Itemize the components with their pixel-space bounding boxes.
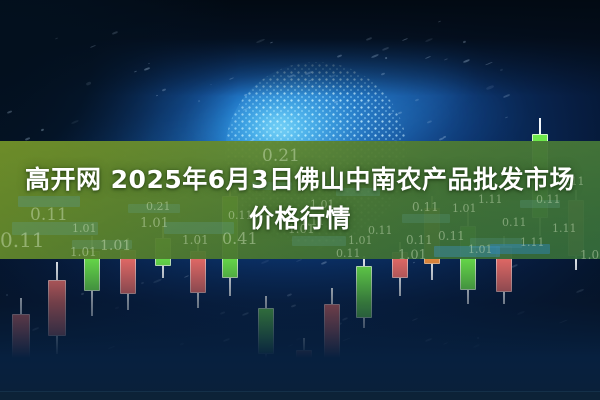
background-number: 1.11 <box>368 141 395 142</box>
background-number: 1.01 <box>468 243 493 256</box>
background-number: 0.11 <box>336 247 361 259</box>
title-line-secondary: 价格行情 <box>8 199 592 238</box>
bottom-edge-strip <box>0 391 600 400</box>
title-block: 高开网 2025年6月3日佛山中南农产品批发市场 价格行情 <box>0 160 600 238</box>
background-number: 1.01 <box>100 238 131 254</box>
background-number: 1.01 <box>70 245 97 259</box>
banner-image: 0.110.111.011.011.010.211.011.010.110.41… <box>0 0 600 400</box>
bottom-vignette <box>0 250 600 400</box>
title-line-primary: 高开网 2025年6月3日佛山中南农产品批发市场 <box>8 160 592 199</box>
background-number: 1.01 <box>580 248 600 259</box>
background-number: 1.01 <box>398 248 427 259</box>
